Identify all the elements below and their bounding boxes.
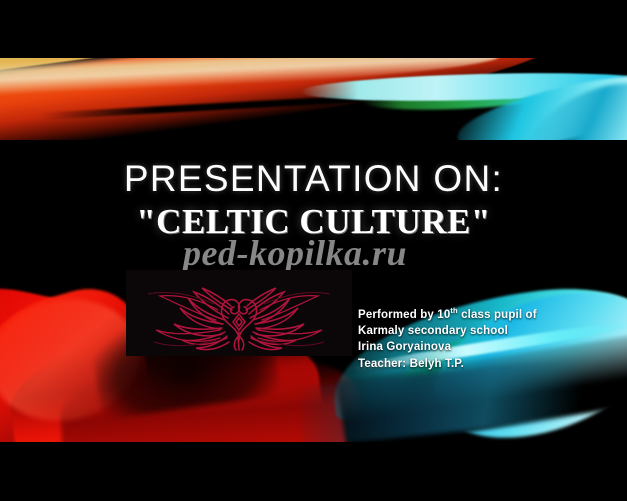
credits-line-4: Teacher: Belyh T.P. xyxy=(358,356,598,372)
credits-line-1: Performed by 10th class pupil of xyxy=(358,303,598,323)
credits-line-1-prefix: Performed by 10 xyxy=(358,309,450,321)
ribbon-dark-sliver xyxy=(40,87,510,119)
top-black-mask xyxy=(0,0,627,58)
title-line-primary: PRESENTATION ON: xyxy=(0,160,627,199)
credits-line-1-suffix: class pupil of xyxy=(458,309,537,321)
warm-ribbon-lower xyxy=(0,0,564,177)
warm-ribbon-highlight xyxy=(0,39,501,98)
celtic-ornament-icon xyxy=(126,270,352,356)
slide-title-block: PRESENTATION ON: "CELTIC CULTURE" xyxy=(0,160,627,241)
red-swoosh-d xyxy=(57,342,364,473)
green-ribbon xyxy=(359,71,590,115)
site-watermark: ped-kopilka.ru xyxy=(183,232,407,274)
cyan-ribbon-top-secondary xyxy=(452,61,627,163)
celtic-ornament-image xyxy=(126,270,352,356)
presentation-slide: PRESENTATION ON: "CELTIC CULTURE" ped-ko… xyxy=(0,0,627,501)
credits-line-1-superscript: th xyxy=(450,306,457,315)
cyan-ribbon-top xyxy=(300,69,627,104)
warm-ribbon-upper xyxy=(0,0,533,124)
credits-line-3: Irina Goryainova xyxy=(358,339,598,355)
credits-line-2: Karmaly secondary school xyxy=(358,323,598,339)
bottom-black-mask xyxy=(0,442,627,501)
presenter-credits: Performed by 10th class pupil of Karmaly… xyxy=(358,303,598,372)
